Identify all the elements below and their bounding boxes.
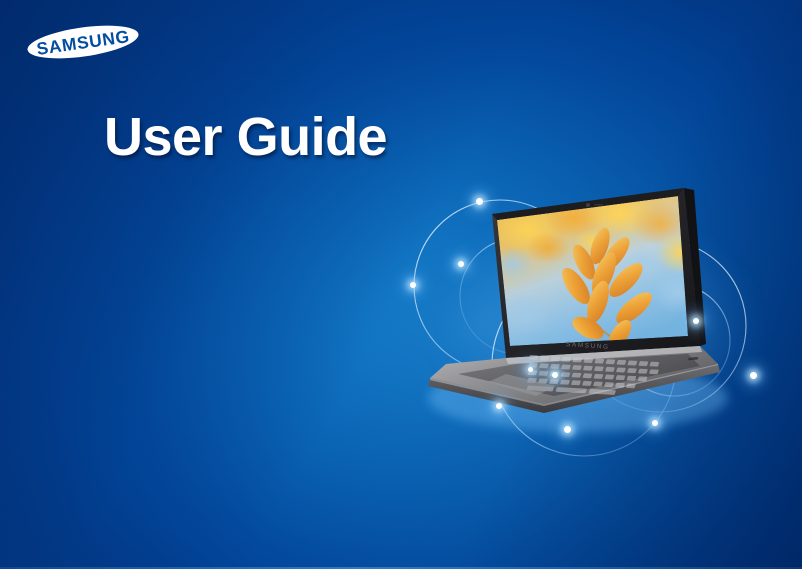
decorative-dot [750,372,757,379]
decorative-dot [410,282,416,288]
screen-sheen [497,196,688,346]
page-title: User Guide [104,108,387,167]
webcam-sensor [594,204,603,206]
decorative-dot [552,372,558,378]
laptop-illustration: SAMSUNG [388,168,802,468]
user-guide-cover: SAMSUNG User Guide [0,0,802,569]
decorative-dot [496,403,502,409]
decorative-dot [652,420,658,426]
decorative-dot [693,318,699,324]
decorative-dot [564,426,571,433]
decorative-dot [476,198,483,205]
samsung-logo: SAMSUNG [26,24,140,60]
decorative-dot [458,261,464,267]
webcam-icon [586,203,590,207]
cover-artwork: SAMSUNG [388,168,802,468]
decorative-dot [528,367,533,372]
